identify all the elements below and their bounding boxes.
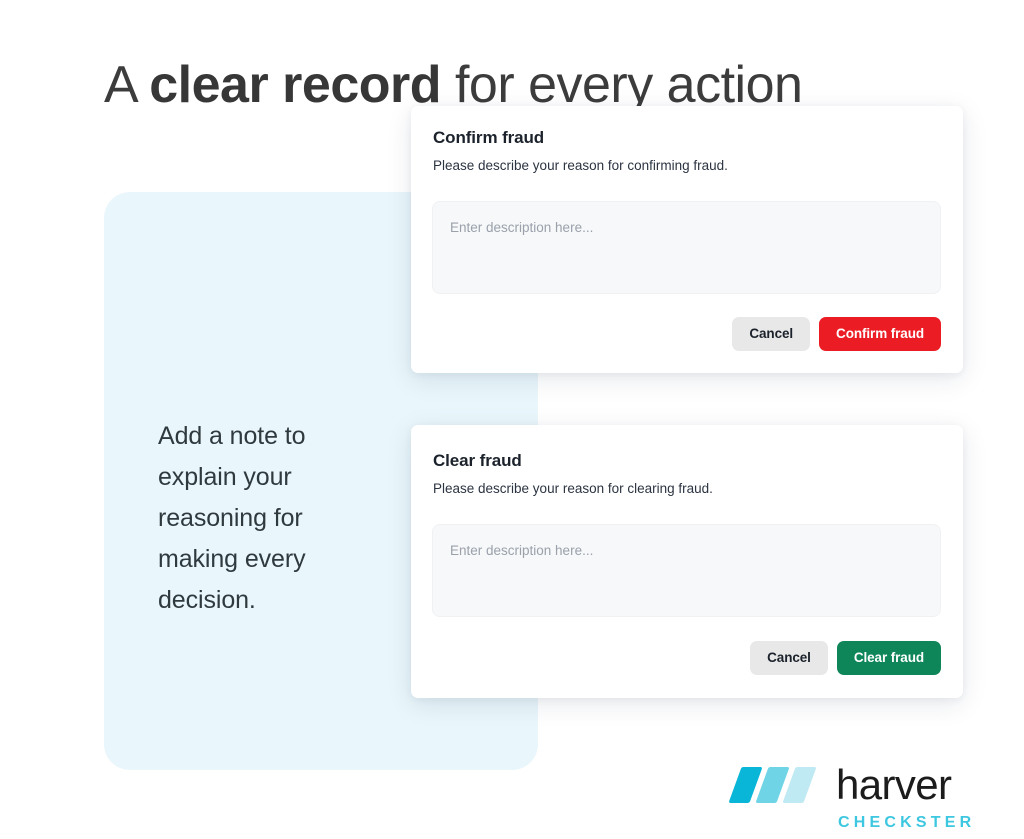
- description-textarea[interactable]: Enter description here...: [432, 524, 941, 617]
- confirm-fraud-button[interactable]: Confirm fraud: [819, 317, 941, 351]
- dialog-subtitle: Please describe your reason for clearing…: [433, 481, 713, 496]
- dialog-title: Confirm fraud: [433, 128, 544, 148]
- description-placeholder: Enter description here...: [450, 220, 593, 235]
- clear-fraud-dialog: Clear fraud Please describe your reason …: [411, 425, 963, 698]
- confirm-fraud-dialog: Confirm fraud Please describe your reaso…: [411, 106, 963, 373]
- panel-description: Add a note to explain your reasoning for…: [158, 416, 373, 621]
- page-title-part-1: A: [104, 56, 149, 114]
- harver-checkster-logo: harver CHECKSTER: [733, 762, 993, 834]
- logo-wordmark: harver: [836, 762, 951, 808]
- dialog-actions: Cancel Confirm fraud: [732, 317, 941, 351]
- dialog-title: Clear fraud: [433, 451, 522, 471]
- page-title-emphasis: clear record: [149, 56, 441, 114]
- logo-subtitle: CHECKSTER: [838, 814, 975, 832]
- description-textarea[interactable]: Enter description here...: [432, 201, 941, 294]
- cancel-button[interactable]: Cancel: [732, 317, 810, 351]
- description-placeholder: Enter description here...: [450, 543, 593, 558]
- logo-slashes-icon: [733, 767, 825, 803]
- dialog-subtitle: Please describe your reason for confirmi…: [433, 158, 728, 173]
- clear-fraud-button[interactable]: Clear fraud: [837, 641, 941, 675]
- dialog-actions: Cancel Clear fraud: [750, 641, 941, 675]
- cancel-button[interactable]: Cancel: [750, 641, 828, 675]
